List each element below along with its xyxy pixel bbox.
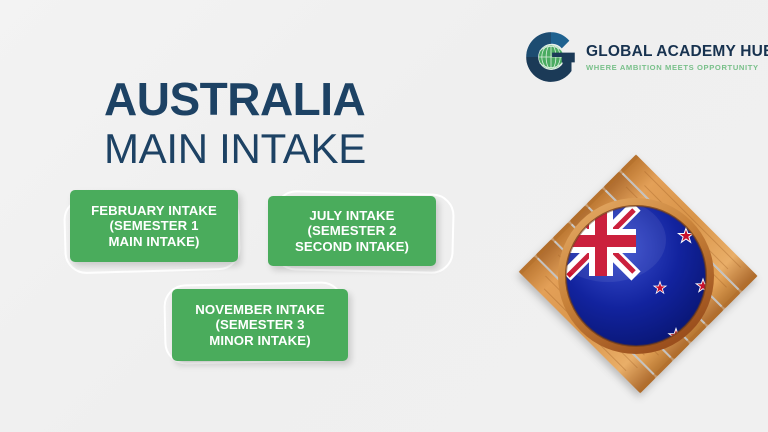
intake-card-july[interactable]: JULY INTAKE (SEMESTER 2 SECOND INTAKE) bbox=[262, 190, 452, 276]
card-body[interactable]: FEBRUARY INTAKE (SEMESTER 1 MAIN INTAKE) bbox=[70, 190, 238, 262]
page-title-country: AUSTRALIA bbox=[104, 76, 366, 122]
page-title-subtitle: MAIN INTAKE bbox=[104, 128, 366, 170]
brand-logo-text: GLOBAL ACADEMY HUB WHERE AMBITION MEETS … bbox=[586, 42, 768, 71]
new-zealand-flag-badge bbox=[508, 148, 764, 404]
globe-g-logo-icon bbox=[524, 30, 578, 84]
intake-card-label: NOVEMBER INTAKE (SEMESTER 3 MINOR INTAKE… bbox=[189, 302, 330, 347]
card-body[interactable]: NOVEMBER INTAKE (SEMESTER 3 MINOR INTAKE… bbox=[172, 289, 348, 361]
intake-card-february[interactable]: FEBRUARY INTAKE (SEMESTER 1 MAIN INTAKE) bbox=[62, 190, 248, 274]
poster-canvas: GLOBAL ACADEMY HUB WHERE AMBITION MEETS … bbox=[0, 0, 768, 432]
intake-card-label: FEBRUARY INTAKE (SEMESTER 1 MAIN INTAKE) bbox=[85, 203, 223, 248]
brand-tagline: WHERE AMBITION MEETS OPPORTUNITY bbox=[586, 64, 768, 72]
page-title: AUSTRALIA MAIN INTAKE bbox=[104, 76, 366, 170]
intake-card-label: JULY INTAKE (SEMESTER 2 SECOND INTAKE) bbox=[289, 208, 415, 253]
card-body[interactable]: JULY INTAKE (SEMESTER 2 SECOND INTAKE) bbox=[268, 196, 436, 266]
brand-name: GLOBAL ACADEMY HUB bbox=[586, 44, 768, 60]
brand-logo[interactable]: GLOBAL ACADEMY HUB WHERE AMBITION MEETS … bbox=[524, 30, 768, 84]
intake-card-november[interactable]: NOVEMBER INTAKE (SEMESTER 3 MINOR INTAKE… bbox=[164, 283, 360, 369]
